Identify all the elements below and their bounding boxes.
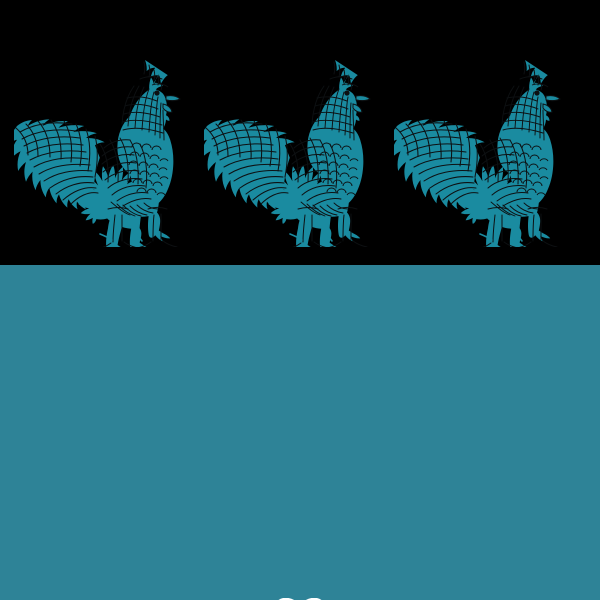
poster-canvas: THE YEAR OF THE ROOSTER WHAT DOES IT MEA… — [0, 0, 600, 600]
rooster-line-art — [394, 52, 566, 247]
rooster-row — [0, 0, 600, 265]
rooster-line-art — [14, 52, 186, 247]
message-band: THE YEAR OF THE ROOSTER WHAT DOES IT MEA… — [0, 265, 600, 600]
rooster-illustration-band — [0, 0, 600, 265]
rooster-line-art — [204, 52, 376, 247]
